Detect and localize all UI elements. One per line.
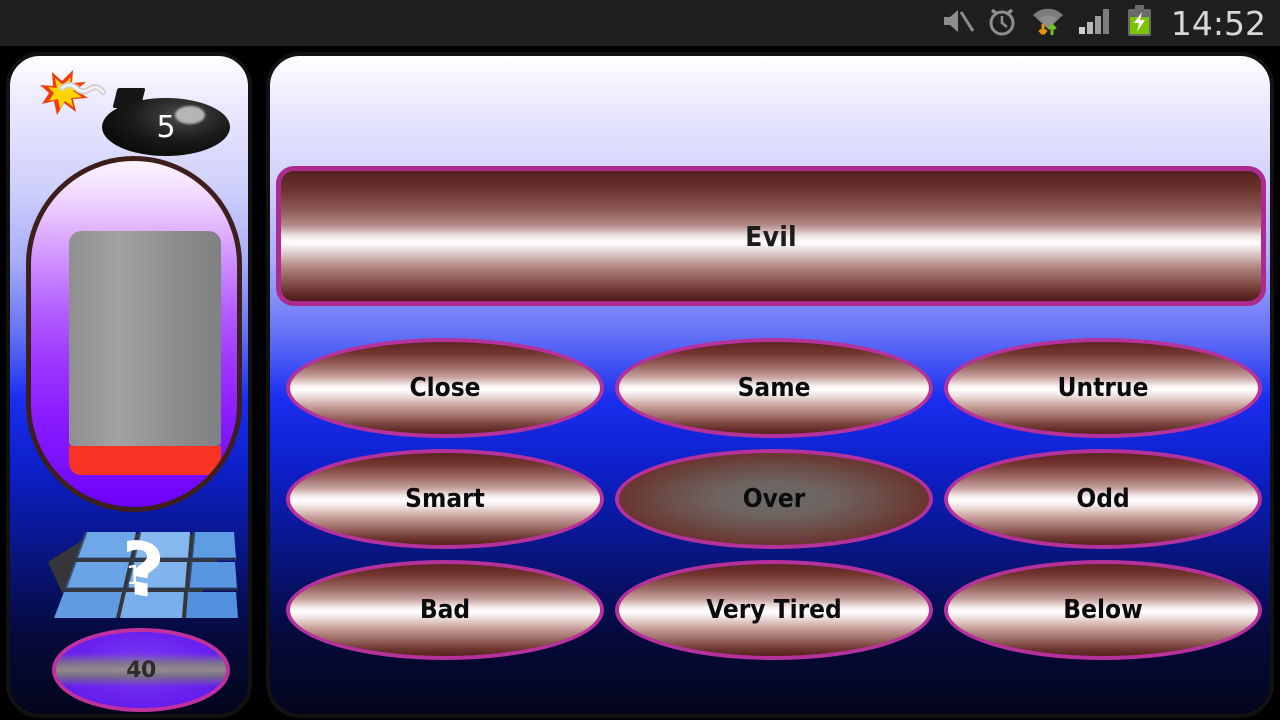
score-badge: 40 — [52, 628, 230, 712]
answer-row: Smart Over Odd — [280, 449, 1268, 549]
answer-label: Very Tired — [706, 595, 842, 625]
answer-row: Close Same Untrue — [280, 338, 1268, 438]
answer-cell: Close — [280, 338, 609, 438]
answer-button-0-0[interactable]: Close — [286, 338, 604, 438]
timer-pill — [26, 156, 242, 512]
answer-button-0-1[interactable]: Same — [615, 338, 933, 438]
timer-bar — [69, 231, 221, 475]
answer-cell: Odd — [938, 449, 1267, 549]
bomb-counter[interactable]: 5 — [40, 68, 230, 164]
answer-button-2-0[interactable]: Bad — [286, 560, 604, 660]
answer-cell: Over — [609, 449, 938, 549]
answer-label: Smart — [405, 484, 485, 514]
main-panel: Evil Close Same Untrue — [266, 52, 1274, 718]
answer-label: Close — [409, 373, 480, 403]
question-bar: Evil — [276, 166, 1266, 306]
answer-label: Bad — [420, 595, 470, 625]
mute-icon — [941, 6, 975, 41]
battery-charging-icon — [1125, 4, 1155, 43]
answer-button-1-0[interactable]: Smart — [286, 449, 604, 549]
answer-cell: Same — [609, 338, 938, 438]
answer-cell: Smart — [280, 449, 609, 549]
sidebar-panel: 5 — [6, 52, 252, 718]
answer-button-0-2[interactable]: Untrue — [944, 338, 1262, 438]
timer-bar-fill — [69, 231, 221, 446]
answer-cell: Very Tired — [609, 560, 938, 660]
alarm-icon — [985, 5, 1019, 42]
answer-label: Odd — [1076, 484, 1129, 514]
app-screen: 14:52 5 — [0, 0, 1280, 720]
score-value: 40 — [126, 658, 156, 683]
answer-label: Over — [743, 484, 806, 514]
answer-cell: Untrue — [938, 338, 1267, 438]
answer-label: Untrue — [1058, 373, 1149, 403]
answer-grid: Close Same Untrue Smar — [280, 338, 1268, 708]
bomb-count-label: 5 — [102, 98, 230, 156]
question-tiles-icon[interactable]: ? 1 — [40, 518, 238, 628]
status-clock: 14:52 — [1171, 7, 1266, 40]
android-status-bar: 14:52 — [0, 0, 1280, 46]
hint-count-label: 1 — [126, 561, 143, 591]
answer-label: Below — [1063, 595, 1142, 625]
question-text: Evil — [745, 220, 797, 253]
timer-bar-danger — [69, 446, 221, 475]
signal-icon — [1077, 6, 1115, 41]
answer-cell: Bad — [280, 560, 609, 660]
answer-cell: Below — [938, 560, 1267, 660]
answer-button-1-1[interactable]: Over — [615, 449, 933, 549]
answer-button-2-1[interactable]: Very Tired — [615, 560, 933, 660]
answer-label: Same — [738, 373, 811, 403]
answer-button-2-2[interactable]: Below — [944, 560, 1262, 660]
wifi-icon — [1029, 5, 1067, 42]
answer-button-1-2[interactable]: Odd — [944, 449, 1262, 549]
answer-row: Bad Very Tired Below — [280, 560, 1268, 660]
